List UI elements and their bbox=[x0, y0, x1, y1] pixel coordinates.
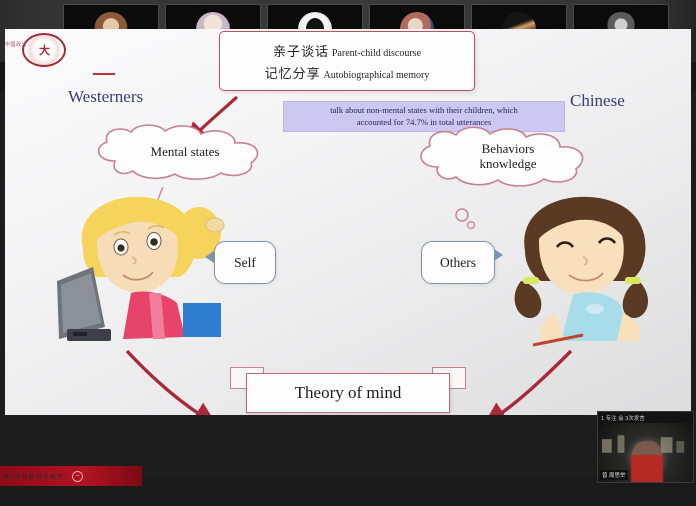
presentation-slide: 大 中国政法 亲子谈话 Parent-child discourse 记忆分享 … bbox=[5, 29, 691, 415]
pip-status-text: 1 专注 会 3次发言 bbox=[601, 414, 645, 422]
title-line-1: 亲子谈话 Parent-child discourse bbox=[273, 41, 421, 60]
title-line-1-en: Parent-child discourse bbox=[332, 48, 421, 59]
conclusion-banner: Theory of mind bbox=[228, 367, 468, 415]
title-line-2-en: Autobiographical memory bbox=[324, 70, 430, 81]
thought-cloud-mental-states: Mental states bbox=[85, 121, 285, 183]
minus-circle-icon: − bbox=[72, 471, 83, 482]
zoom-meeting-window: ● ▣ 🎤 航db211D 郝威... ● 🎤 航db211D 司梧吉 🎤 bbox=[0, 0, 696, 506]
title-line-2: 记忆分享 Autobiographical memory bbox=[265, 63, 430, 82]
conclusion-label: Theory of mind bbox=[295, 383, 402, 403]
others-box: Others bbox=[421, 241, 495, 284]
statistic-line-1: talk about non-mental states with their … bbox=[330, 105, 518, 117]
pip-name-label: 曾 周思举 bbox=[600, 470, 628, 480]
title-line-2-zh: 记忆分享 bbox=[265, 66, 321, 81]
self-box: Self bbox=[214, 241, 276, 284]
cloud-label: Mental states bbox=[85, 121, 285, 183]
seal-caption: 中国政法 bbox=[5, 41, 27, 48]
cloud-right-text-1: Behaviors bbox=[482, 142, 535, 157]
university-seal-icon: 大 bbox=[22, 33, 66, 67]
title-line-1-zh: 亲子谈话 bbox=[273, 44, 329, 59]
others-box-label: Others bbox=[440, 255, 476, 271]
self-box-tail bbox=[205, 251, 214, 263]
label-chinese: Chinese bbox=[570, 91, 625, 111]
cloud-label: Behaviors knowledge bbox=[408, 123, 608, 191]
self-view-pip[interactable]: 1 专注 会 3次发言 曾 周思举 bbox=[597, 411, 694, 483]
conclusion-box: Theory of mind bbox=[246, 373, 450, 413]
blonde-girl-with-laptop-illustration bbox=[53, 189, 238, 354]
slide-title-box: 亲子谈话 Parent-child discourse 记忆分享 Autobio… bbox=[219, 31, 475, 91]
cloud-left-text: Mental states bbox=[151, 145, 220, 160]
pip-toolbar: 1 专注 会 3次发言 bbox=[598, 412, 693, 423]
pip-person bbox=[631, 441, 663, 483]
brown-haired-girl-illustration bbox=[503, 189, 683, 354]
footer-text: 第 8 页 共 数 的 详 画 完 ... bbox=[3, 472, 68, 481]
slide-footer-ribbon: 第 8 页 共 数 的 详 画 完 ... − bbox=[0, 466, 142, 486]
label-westerners: Westerners bbox=[68, 87, 143, 107]
thought-cloud-behaviors-knowledge: Behaviors knowledge bbox=[408, 123, 608, 191]
self-box-label: Self bbox=[234, 255, 256, 271]
seal-divider bbox=[93, 73, 115, 75]
seal-text: 大 bbox=[39, 42, 49, 58]
cloud-right-text-2: knowledge bbox=[479, 157, 536, 172]
pip-video: 曾 周思举 bbox=[598, 423, 693, 482]
others-box-tail bbox=[494, 249, 503, 261]
